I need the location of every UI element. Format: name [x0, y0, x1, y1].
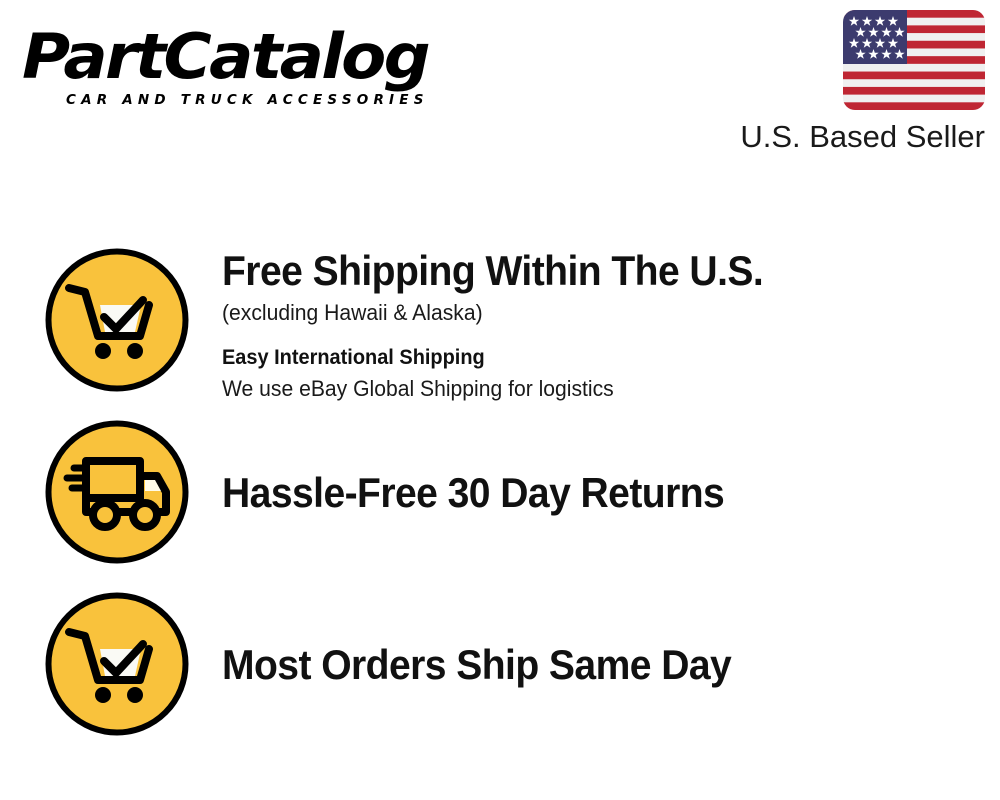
brand-logo-wordmark: PartCatalog [22, 22, 520, 92]
feature-heading: Hassle-Free 30 Day Returns [222, 470, 929, 516]
feature-text-same-day-ship: Most Orders Ship Same Day [222, 642, 982, 688]
brand-logo-tagline: CAR AND TRUCK ACCESSORIES [66, 92, 429, 108]
feature-subnote: We use eBay Global Shipping for logistic… [222, 374, 952, 404]
us-based-seller-label: U.S. Based Seller [600, 118, 985, 156]
feature-subheading: Easy International Shipping [222, 344, 944, 372]
feature-note: (excluding Hawaii & Alaska) [222, 298, 952, 328]
page-header: PartCatalog CAR AND TRUCK ACCESSORIES [0, 0, 1000, 175]
feature-heading: Free Shipping Within The U.S. [222, 248, 929, 294]
brand-logo[interactable]: PartCatalog CAR AND TRUCK ACCESSORIES [22, 22, 492, 114]
shopping-cart-check-icon [45, 248, 189, 392]
feature-heading: Most Orders Ship Same Day [222, 642, 929, 688]
feature-text-free-shipping: Free Shipping Within The U.S. (excluding… [222, 248, 982, 404]
feature-text-returns: Hassle-Free 30 Day Returns [222, 470, 982, 516]
shopping-cart-check-icon [45, 592, 189, 736]
delivery-truck-icon [45, 420, 189, 564]
us-flag-icon [843, 10, 985, 110]
